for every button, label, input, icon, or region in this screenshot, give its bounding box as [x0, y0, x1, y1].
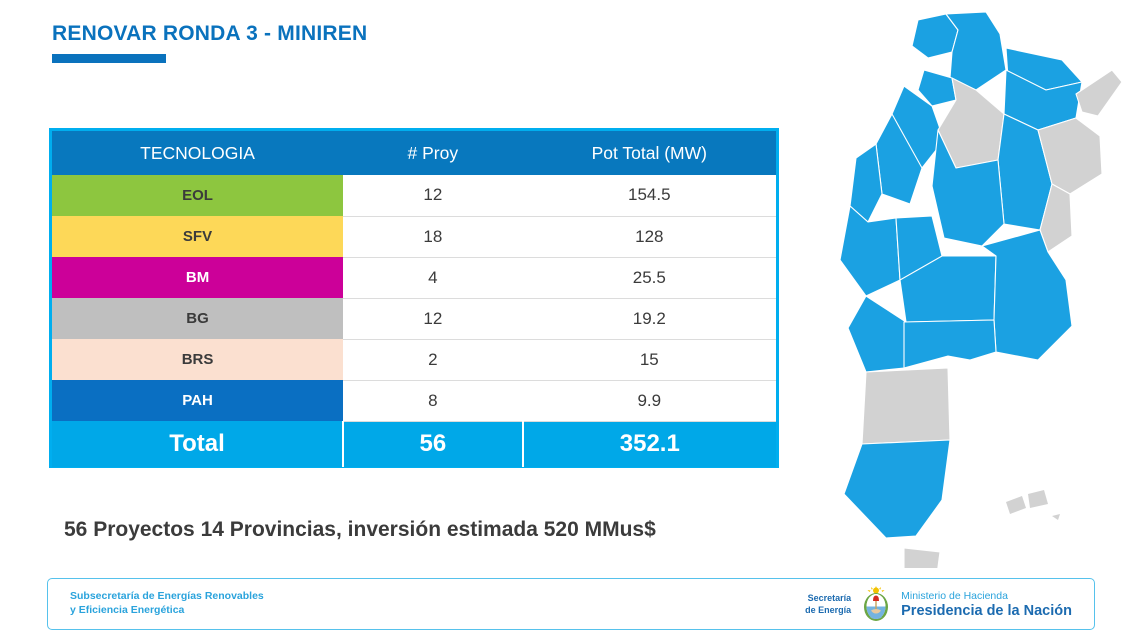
map-province-neuquen	[848, 296, 906, 372]
map-province-rio-negro	[904, 320, 996, 368]
footer-bar: Subsecretaría de Energías Renovables y E…	[47, 578, 1095, 630]
cell-potencia: 15	[523, 339, 776, 380]
government-branding: Secretaría de Energía	[805, 585, 1072, 625]
table-header-row: TECNOLOGIA # Proy Pot Total (MW)	[52, 131, 776, 175]
map-province-chubut	[862, 368, 950, 444]
cell-proyectos: 8	[343, 380, 523, 421]
ministry-label: Ministerio de Hacienda Presidencia de la…	[901, 590, 1072, 619]
map-island-malvinas-west	[1006, 496, 1026, 514]
total-proyectos: 56	[343, 421, 523, 467]
column-header-potencia: Pot Total (MW)	[523, 131, 776, 175]
map-province-t-del-fuego	[904, 548, 940, 568]
column-header-proyectos: # Proy	[343, 131, 523, 175]
table-row: BM425.5	[52, 257, 776, 298]
technology-summary-table: TECNOLOGIA # Proy Pot Total (MW) EOL1215…	[49, 128, 779, 468]
table-total-row: Total56352.1	[52, 421, 776, 467]
cell-potencia: 154.5	[523, 175, 776, 216]
subsecretaria-line2: y Eficiencia Energética	[70, 604, 264, 618]
cell-proyectos: 4	[343, 257, 523, 298]
cell-proyectos: 2	[343, 339, 523, 380]
cell-tecnologia: SFV	[52, 216, 343, 257]
map-island-malvinas-east	[1028, 490, 1048, 508]
map-province-misiones	[1076, 70, 1122, 116]
total-potencia: 352.1	[523, 421, 776, 467]
table-row: SFV18128	[52, 216, 776, 257]
cell-proyectos: 12	[343, 175, 523, 216]
map-province-salta	[946, 12, 1006, 90]
cell-potencia: 19.2	[523, 298, 776, 339]
ministry-line1: Ministerio de Hacienda	[901, 590, 1072, 602]
table-row: BG1219.2	[52, 298, 776, 339]
table-row: PAH89.9	[52, 380, 776, 421]
cell-potencia: 128	[523, 216, 776, 257]
table-row: EOL12154.5	[52, 175, 776, 216]
table-row: BRS215	[52, 339, 776, 380]
map-province-santa-cruz	[844, 440, 950, 538]
secretaria-de-energia-label: Secretaría de Energía	[805, 593, 851, 616]
cell-tecnologia: BG	[52, 298, 343, 339]
cell-potencia: 25.5	[523, 257, 776, 298]
secretaria-line2: de Energía	[805, 605, 851, 617]
map-island-islet	[1052, 514, 1060, 520]
cell-proyectos: 12	[343, 298, 523, 339]
argentina-map	[800, 8, 1130, 568]
cell-tecnologia: BRS	[52, 339, 343, 380]
summary-caption: 56 Proyectos 14 Provincias, inversión es…	[64, 518, 656, 542]
cell-tecnologia: EOL	[52, 175, 343, 216]
secretaria-line1: Secretaría	[805, 593, 851, 605]
map-province-mendoza	[840, 206, 900, 296]
cell-tecnologia: BM	[52, 257, 343, 298]
subsecretaria-line1: Subsecretaría de Energías Renovables	[70, 590, 264, 604]
column-header-tecnologia: TECNOLOGIA	[52, 131, 343, 175]
title-underline-bar	[52, 54, 166, 63]
total-label: Total	[52, 421, 343, 467]
cell-tecnologia: PAH	[52, 380, 343, 421]
argentina-coat-of-arms-icon	[860, 586, 892, 624]
cell-potencia: 9.9	[523, 380, 776, 421]
ministry-line2: Presidencia de la Nación	[901, 603, 1072, 620]
cell-proyectos: 18	[343, 216, 523, 257]
page-title: RENOVAR RONDA 3 - MINIREN	[52, 22, 367, 46]
subsecretaria-label: Subsecretaría de Energías Renovables y E…	[70, 590, 264, 618]
